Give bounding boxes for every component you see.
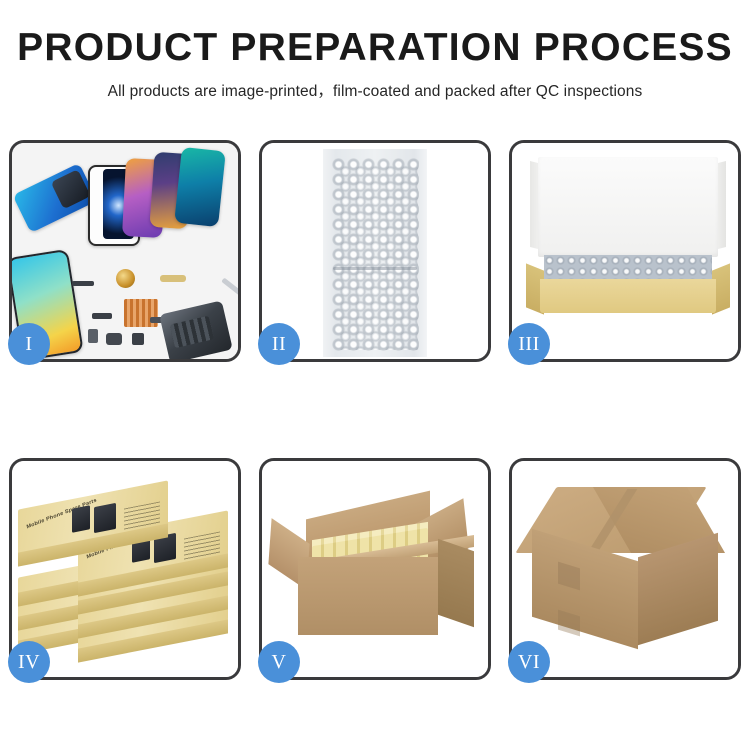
bubble-wrap-pouch — [323, 149, 427, 357]
page-title: PRODUCT PREPARATION PROCESS — [0, 26, 750, 70]
tweezers-tool — [221, 278, 238, 298]
part-connector-strip — [72, 281, 94, 286]
step-badge-4: IV — [8, 641, 50, 683]
stacked-boxes-image: Mobile Phone Spare Parts Mobile Phone Sp… — [12, 461, 238, 677]
step-badge-1: I — [8, 323, 50, 365]
pouch-seam — [333, 267, 417, 270]
bubble-pattern-back — [338, 164, 418, 350]
bubble-wrapped-contents — [544, 255, 712, 281]
step-panel-1: I — [9, 140, 241, 362]
mailer-lid-panel — [538, 157, 718, 257]
bubble-wrap-image — [262, 143, 488, 359]
spare-parts-cluster — [72, 267, 238, 359]
box-artwork-screen-d — [94, 503, 116, 533]
step-badge-2: II — [258, 323, 300, 365]
part-speaker — [132, 333, 144, 345]
step-panel-3: III — [509, 140, 741, 362]
phone-back-panel-cyan — [13, 163, 98, 233]
step-panel-2: II — [259, 140, 491, 362]
open-carton-image — [262, 461, 488, 677]
step-panel-4: Mobile Phone Spare Parts Mobile Phone Sp… — [9, 458, 241, 680]
part-camera-module — [106, 333, 122, 345]
mailer-box-front — [540, 279, 716, 313]
carton-right-side — [438, 539, 474, 627]
retail-box-stack: Mobile Phone Spare Parts Mobile Phone Sp… — [12, 461, 238, 677]
open-mailer-box-image — [512, 143, 738, 359]
sealed-carton-image — [512, 461, 738, 677]
step-panel-6: VI — [509, 458, 741, 680]
retail-box-back-top: Mobile Phone Spare Parts — [18, 495, 168, 539]
step-badge-5: V — [258, 641, 300, 683]
page-subtitle: All products are image-printed，film-coat… — [0, 79, 750, 101]
part-bracket — [92, 313, 112, 319]
part-flex-cable — [160, 275, 186, 282]
phone-chassis-disassembled — [159, 300, 233, 359]
carton-front-face — [298, 557, 438, 635]
steps-grid: I II III — [9, 140, 741, 680]
phone-parts-image — [12, 143, 238, 359]
box-artwork-screen-c — [72, 505, 90, 532]
part-button — [88, 329, 98, 343]
step-badge-6: VI — [508, 641, 550, 683]
step-panel-5: V — [259, 458, 491, 680]
step-badge-3: III — [508, 323, 550, 365]
phone-screen-teal — [174, 147, 226, 227]
part-gold-coil — [116, 269, 135, 288]
header: PRODUCT PREPARATION PROCESS All products… — [0, 0, 750, 101]
product-preparation-process-infographic: PRODUCT PREPARATION PROCESS All products… — [0, 0, 750, 750]
